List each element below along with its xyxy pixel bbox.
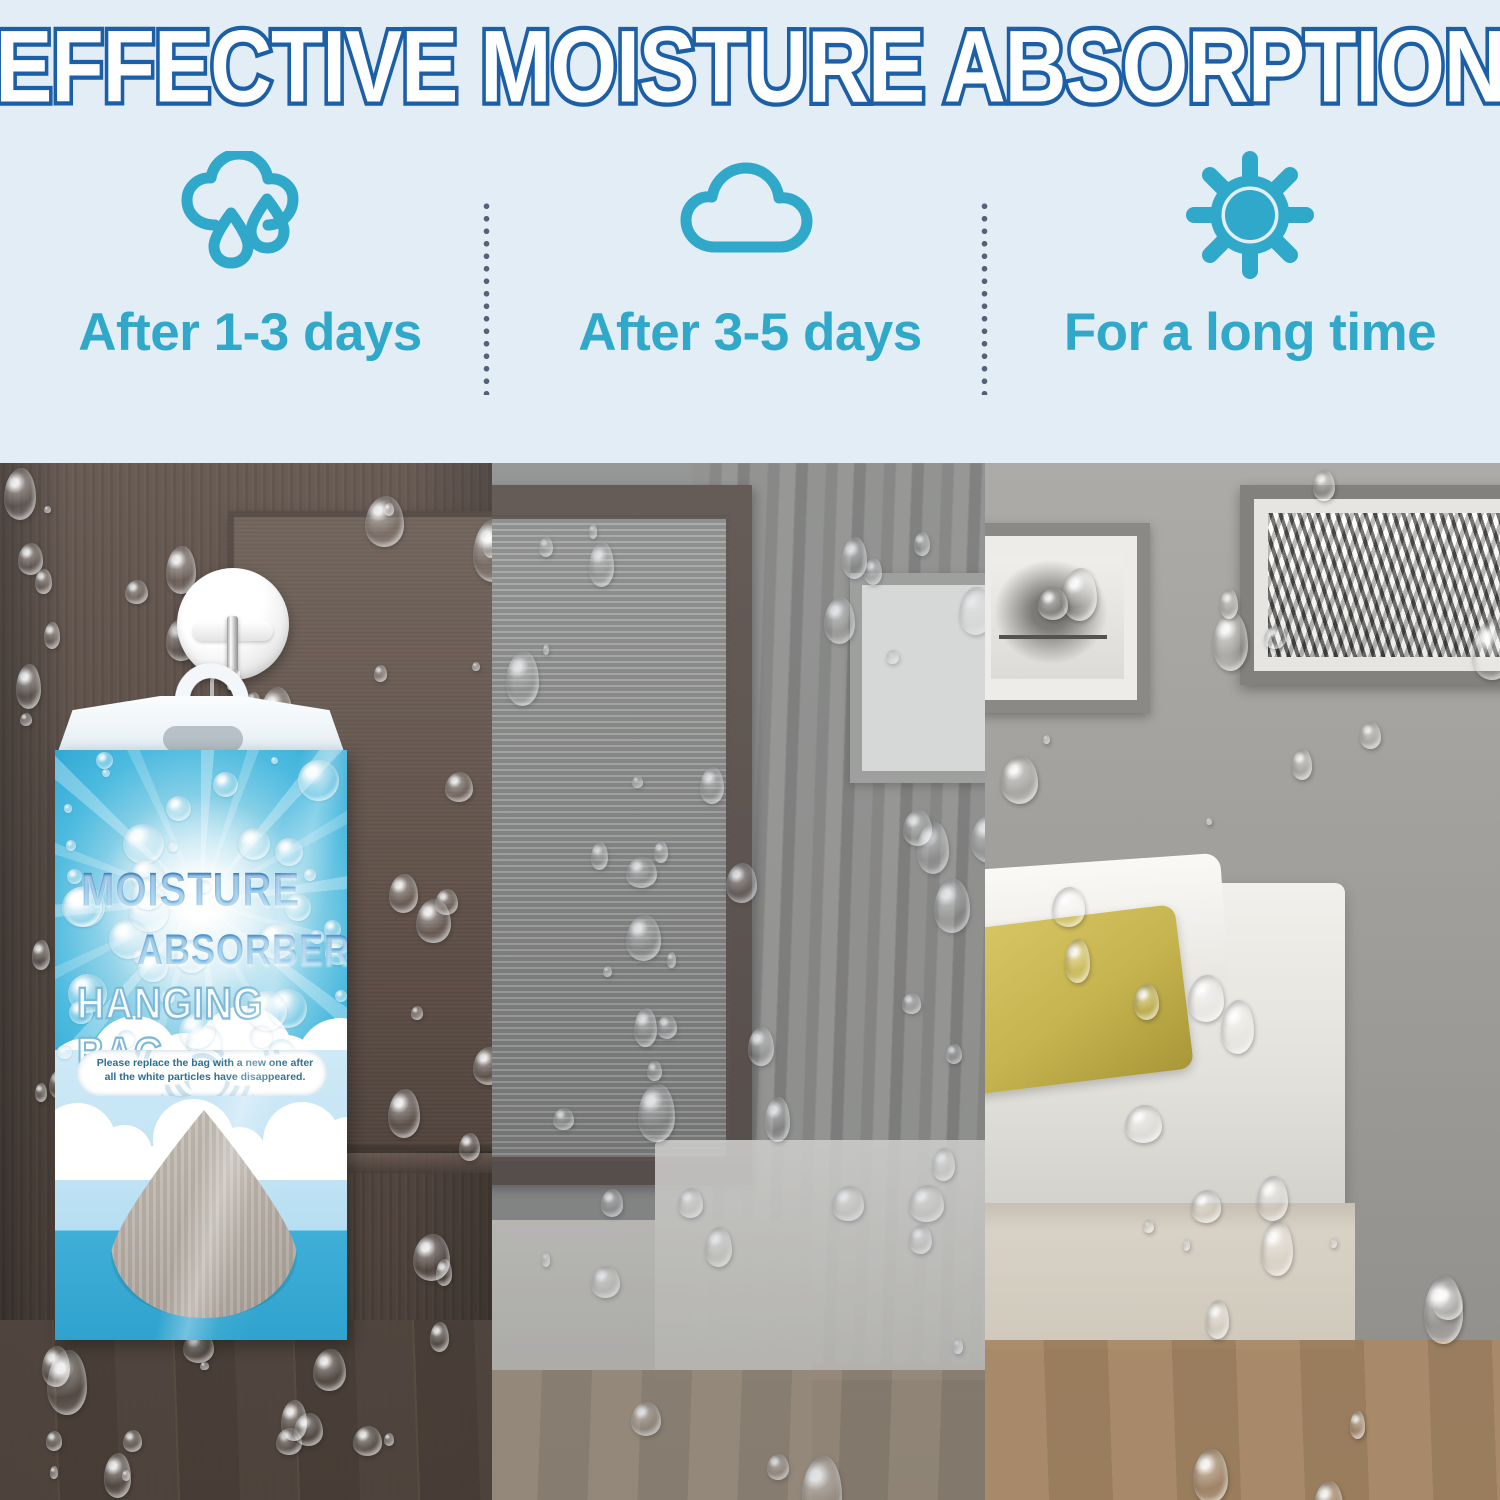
benefit-column-2: After 3-5 days bbox=[500, 150, 1000, 430]
bed-base bbox=[985, 1203, 1355, 1353]
page-title-text: EFFECTIVE MOISTURE ABSORPTION bbox=[0, 7, 1500, 125]
moisture-absorber-bag: MOISTURE ABSORBER HANGING BAG Please rep… bbox=[55, 750, 347, 1340]
product-feature-image: EFFECTIVE MOISTURE ABSORPTION After 1-3 … bbox=[0, 0, 1500, 1500]
wall-picture-frame bbox=[850, 573, 985, 783]
scene-panel-bedroom: MOISTURE ABSORBER HANGING BAG Please rep… bbox=[985, 463, 1500, 1500]
yellow-pillow bbox=[985, 904, 1194, 1097]
cloud-icon bbox=[675, 150, 825, 280]
benefit-label-3: For a long time bbox=[1064, 302, 1436, 363]
column-divider-2 bbox=[981, 200, 988, 395]
benefit-label-2: After 3-5 days bbox=[578, 302, 922, 363]
window-blinds bbox=[492, 515, 730, 1161]
scene-panel-window: MOISTURE ABSORBER HANGING BAG Please rep… bbox=[492, 463, 985, 1500]
column-divider-1 bbox=[483, 200, 490, 395]
page-title: EFFECTIVE MOISTURE ABSORPTION bbox=[0, 18, 1500, 114]
hanger-slot bbox=[163, 726, 243, 752]
bag-plastic-shine bbox=[55, 750, 347, 1340]
floor-wood bbox=[985, 1340, 1500, 1500]
floor-wood bbox=[492, 1370, 985, 1500]
window-frame bbox=[492, 485, 752, 1185]
rain-cloud-icon bbox=[175, 150, 325, 280]
framed-picture-wide bbox=[1240, 485, 1500, 685]
benefit-column-1: After 1-3 days bbox=[0, 150, 500, 430]
floor-wood bbox=[0, 1320, 492, 1500]
benefit-columns: After 1-3 days After 3-5 days bbox=[0, 150, 1500, 430]
header-section: EFFECTIVE MOISTURE ABSORPTION After 1-3 … bbox=[0, 0, 1500, 463]
benefit-column-3: For a long time bbox=[1000, 150, 1500, 430]
sun-icon bbox=[1186, 150, 1314, 280]
scene-panel-wooden-door: MOISTURE ABSORBER HANGING BAG Please rep… bbox=[0, 463, 492, 1500]
benefit-label-1: After 1-3 days bbox=[78, 302, 422, 363]
photo-strip: MOISTURE ABSORBER HANGING BAG Please rep… bbox=[0, 463, 1500, 1500]
framed-picture-small bbox=[985, 523, 1150, 713]
